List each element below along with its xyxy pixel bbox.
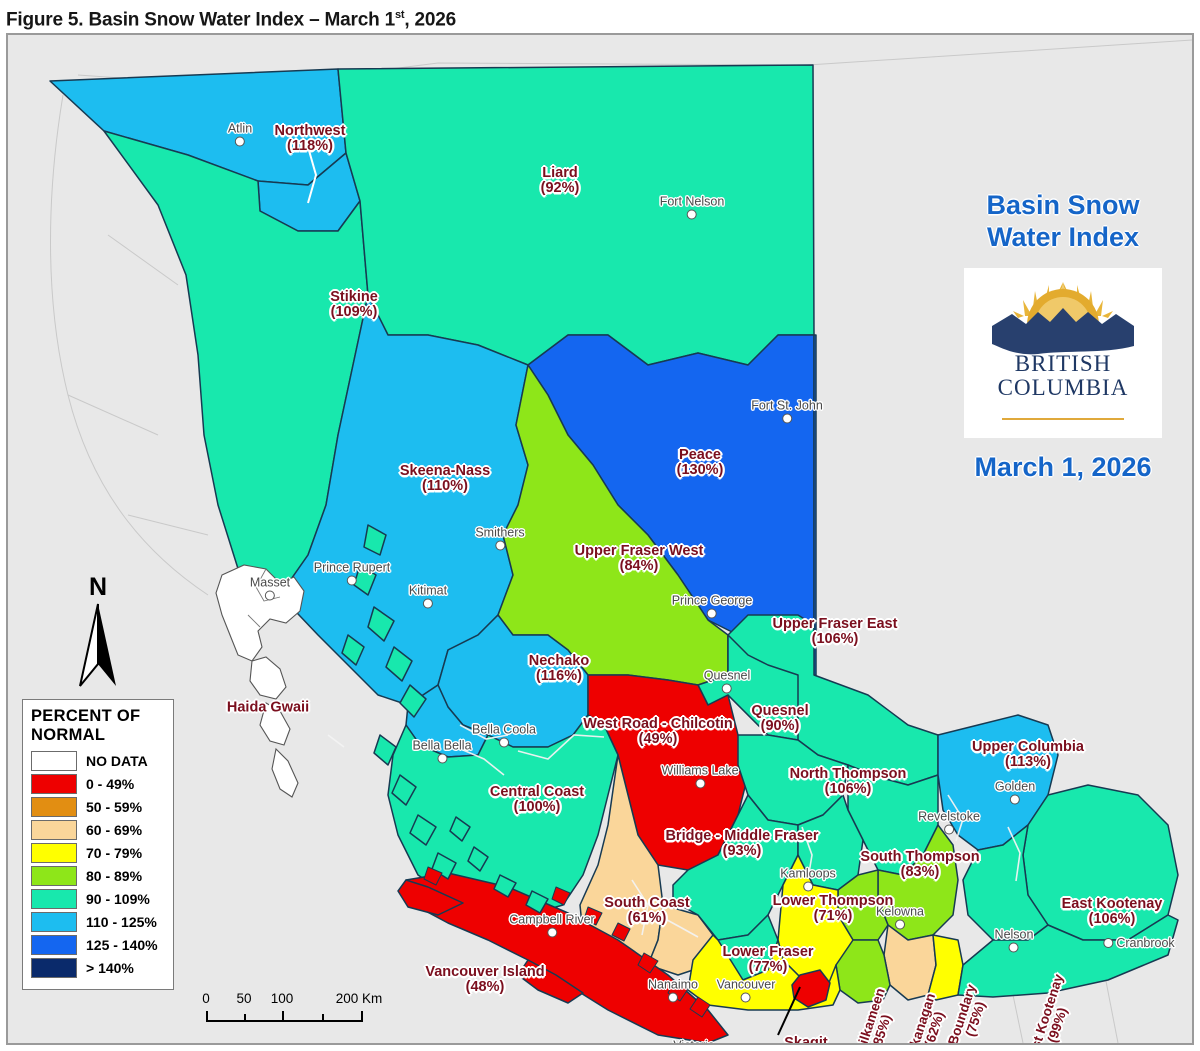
legend-label: 110 - 125% xyxy=(86,914,157,930)
bc-wordmark-line1: BRITISH xyxy=(964,352,1162,376)
legend-label: > 140% xyxy=(86,960,134,976)
river-forecast-centre-label[interactable]: River Forecast Centre xyxy=(204,1039,468,1045)
legend-title-line1: PERCENT OF xyxy=(31,707,165,726)
legend-swatch xyxy=(31,958,77,978)
scale-bar-ticks xyxy=(204,1009,400,1023)
scale-label: 0 xyxy=(202,991,210,1006)
legend-row-70-79[interactable]: 70 - 79% xyxy=(31,843,165,863)
legend-row-50-59[interactable]: 50 - 59% xyxy=(31,797,165,817)
legend-row-90-109[interactable]: 90 - 109% xyxy=(31,889,165,909)
map-title-panel: Basin Snow Water Index xyxy=(938,190,1188,483)
legend-rows: NO DATA0 - 49%50 - 59%60 - 69%70 - 79%80… xyxy=(31,751,165,978)
panel-title-line2: Water Index xyxy=(938,222,1188,254)
legend-row-0-49[interactable]: 0 - 49% xyxy=(31,774,165,794)
legend-swatch xyxy=(31,889,77,909)
legend-row-no-data[interactable]: NO DATA xyxy=(31,751,165,771)
legend-row-140[interactable]: > 140% xyxy=(31,958,165,978)
map-frame: Northwest(118%)Liard(92%)Stikine(109%)Pe… xyxy=(6,33,1194,1045)
figure-caption-ordinal: st xyxy=(395,9,404,21)
legend-swatch xyxy=(31,797,77,817)
legend-label: 0 - 49% xyxy=(86,776,134,792)
scale-tick-50 xyxy=(244,1014,246,1022)
legend-swatch xyxy=(31,866,77,886)
panel-title-line1: Basin Snow xyxy=(938,190,1188,222)
scale-tick-100 xyxy=(282,1011,284,1022)
scale-tick-150 xyxy=(322,1014,324,1022)
legend-swatch xyxy=(31,935,77,955)
legend-row-80-89[interactable]: 80 - 89% xyxy=(31,866,165,886)
legend-label: 70 - 79% xyxy=(86,845,142,861)
legend-label: 90 - 109% xyxy=(86,891,150,907)
north-arrow-icon xyxy=(68,600,128,690)
bc-wordmark-line2: COLUMBIA xyxy=(964,376,1162,400)
legend-label: 60 - 69% xyxy=(86,822,142,838)
panel-date: March 1, 2026 xyxy=(938,452,1188,483)
legend-swatch xyxy=(31,843,77,863)
scale-tick-0 xyxy=(206,1011,208,1022)
legend-swatch xyxy=(31,751,77,771)
map-canvas[interactable] xyxy=(8,35,1192,1043)
north-arrow: N xyxy=(68,575,128,695)
legend-row-125-140[interactable]: 125 - 140% xyxy=(31,935,165,955)
scale-bar: 050100200 Km xyxy=(204,991,400,1023)
scale-tick-200 xyxy=(361,1011,363,1022)
british-columbia-logo: BRITISH COLUMBIA xyxy=(964,268,1162,438)
legend-title-line2: NORMAL xyxy=(31,726,165,745)
legend-percent-of-normal: PERCENT OF NORMAL NO DATA0 - 49%50 - 59%… xyxy=(22,699,174,990)
legend-label: 50 - 59% xyxy=(86,799,142,815)
figure-caption-post: , 2026 xyxy=(404,9,456,30)
figure-caption-pre: Figure 5. Basin Snow Water Index – March… xyxy=(6,9,395,30)
bc-sun-mountain-icon xyxy=(964,268,1162,358)
north-arrow-letter: N xyxy=(68,575,128,600)
scale-label: 50 xyxy=(236,991,251,1006)
scale-label: 200 Km xyxy=(336,991,383,1006)
panel-title: Basin Snow Water Index xyxy=(938,190,1188,254)
legend-swatch xyxy=(31,774,77,794)
scale-label: 100 xyxy=(271,991,294,1006)
scale-bar-baseline xyxy=(206,1020,363,1022)
bc-wordmark: BRITISH COLUMBIA xyxy=(964,352,1162,400)
legend-row-110-125[interactable]: 110 - 125% xyxy=(31,912,165,932)
legend-swatch xyxy=(31,820,77,840)
figure-caption: Figure 5. Basin Snow Water Index – March… xyxy=(6,0,1006,30)
legend-title: PERCENT OF NORMAL xyxy=(31,707,165,745)
legend-label: 80 - 89% xyxy=(86,868,142,884)
legend-label: NO DATA xyxy=(86,753,148,769)
bc-wordmark-rule xyxy=(1002,418,1124,420)
scale-bar-labels: 050100200 Km xyxy=(204,991,400,1008)
legend-row-60-69[interactable]: 60 - 69% xyxy=(31,820,165,840)
legend-label: 125 - 140% xyxy=(86,937,158,953)
legend-swatch xyxy=(31,912,77,932)
